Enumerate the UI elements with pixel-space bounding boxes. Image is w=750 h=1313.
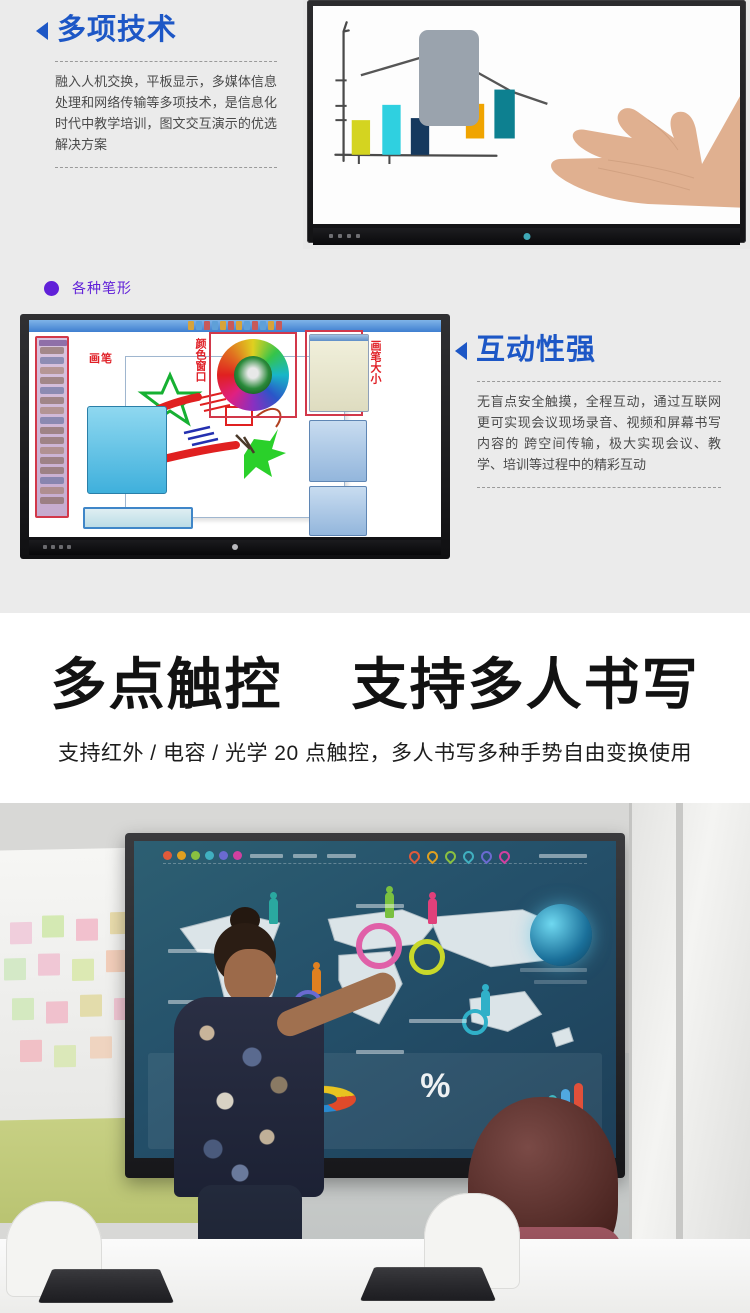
pen-shapes-label-text: 各种笔形 (72, 278, 132, 298)
pen-tool-palette[interactable] (35, 336, 69, 518)
headline: 多点触控 支持多人书写 (0, 657, 750, 713)
triangle-left-icon (455, 342, 467, 360)
brand-logo-icon (232, 544, 238, 550)
highlight-ring-pink (356, 923, 402, 969)
feature-interactive-title: 互动性强 (476, 334, 596, 367)
thumbnail-panel[interactable] (309, 486, 367, 536)
hand-drawn-bar-chart (313, 6, 740, 222)
panel-header (310, 335, 368, 341)
feature-technology-body: 融入人机交换，平板显示，多媒体信息处理和网络传输等多项技术，是信息化时代中教学培… (55, 61, 277, 167)
laptop-left (38, 1269, 174, 1303)
feature-interactive-header: 互动性强 (455, 334, 750, 367)
bar-1 (352, 120, 370, 155)
legend-dots-left-icon (163, 851, 242, 860)
label-color-window: 颜色窗口 (192, 338, 208, 382)
display-chin-bar (313, 228, 740, 245)
headline-section: 多点触控 支持多人书写 支持红外 / 电容 / 光学 20 点触控，多人书写多种… (0, 613, 750, 803)
indicator-leds-icon (43, 545, 71, 549)
bar-5 (494, 90, 514, 139)
secondary-panel[interactable] (309, 420, 367, 482)
display-chin-bar (29, 540, 441, 555)
feature-block-interactive: 互动性强 无盲点安全触摸，全程互动，通过互联网更可实现会议现场录音、视频和屏幕书… (455, 334, 750, 488)
feature-interactive-body: 无盲点安全触摸，全程互动，通过互联网更可实现会议现场录音、视频和屏幕书写内容的 … (477, 381, 721, 487)
triangle-left-icon (36, 22, 48, 40)
color-wheel-picker[interactable] (217, 339, 289, 411)
display-screen-whiteboard (313, 6, 740, 224)
percent-label: % (420, 1067, 450, 1106)
dashboard-divider (163, 863, 587, 864)
toolbar-icons (188, 321, 282, 330)
feature-technology-header: 多项技术 (0, 14, 300, 47)
features-section: 多项技术 融入人机交换，平板显示，多媒体信息处理和网络传输等多项技术，是信息化时… (0, 0, 750, 613)
indicator-leds-icon (329, 234, 360, 238)
laptop-right (360, 1267, 496, 1301)
display-chart-photo (303, 0, 750, 249)
headline-subtitle: 支持红外 / 电容 / 光学 20 点触控，多人书写多种手势自由变换使用 (0, 737, 750, 767)
label-brush-size: 画笔大小 (367, 340, 383, 384)
status-toolbar[interactable] (83, 507, 193, 529)
office-room-scene: % (0, 803, 750, 1313)
product-detail-page: 多项技术 融入人机交换，平板显示，多媒体信息处理和网络传输等多项技术，是信息化时… (0, 0, 750, 1313)
purple-dot-icon (44, 281, 59, 296)
pen-shapes-label: 各种笔形 (44, 278, 132, 298)
brand-logo-icon (523, 233, 530, 240)
lifestyle-photo-section: % (0, 803, 750, 1313)
feature-technology-title: 多项技术 (57, 14, 177, 47)
whiteboard-application: 画笔 (29, 320, 441, 537)
app-titlebar (29, 320, 441, 332)
palette-header (39, 340, 67, 346)
feature-block-technology: 多项技术 融入人机交换，平板显示，多媒体信息处理和网络传输等多项技术，是信息化时… (0, 14, 300, 168)
headline-right: 支持多人书写 (352, 653, 700, 716)
eraser-block (419, 30, 479, 126)
brush-size-panel[interactable] (309, 334, 369, 412)
media-gallery-panel[interactable] (87, 406, 167, 494)
label-brush: 画笔 (89, 350, 113, 366)
map-pin-row-icon (409, 851, 510, 862)
headline-left: 多点触控 (50, 653, 282, 716)
display-screen-software: 画笔 (29, 320, 441, 537)
window-frame (629, 803, 750, 1313)
bar-2 (382, 105, 400, 155)
display-whiteboard-software: 画笔 (20, 314, 450, 559)
highlight-ring-yellow (409, 939, 445, 975)
globe-icon (530, 904, 592, 966)
